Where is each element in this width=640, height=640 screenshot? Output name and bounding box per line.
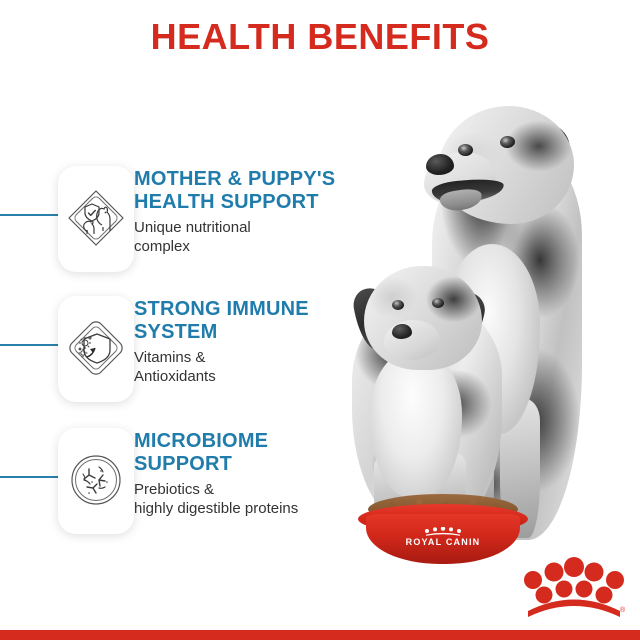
adult-dog-nose: [426, 154, 454, 175]
benefit-text-block: MOTHER & PUPPY'S HEALTH SUPPORT Unique n…: [134, 168, 359, 256]
bowl-crown-icon: [422, 528, 464, 536]
adult-dog-eye-left: [458, 144, 473, 156]
benefit-heading: MICROBIOME SUPPORT: [134, 430, 359, 476]
benefit-item-strong-immune-system: STRONG IMMUNE SYSTEM Vitamins & Antioxid…: [0, 296, 360, 406]
puppy-chest: [370, 348, 462, 498]
svg-text:®: ®: [620, 606, 626, 614]
benefit-item-mother-puppy-health-support: MOTHER & PUPPY'S HEALTH SUPPORT Unique n…: [0, 166, 360, 276]
mother-and-puppy-icon: [62, 182, 130, 254]
benefit-heading: MOTHER & PUPPY'S HEALTH SUPPORT: [134, 168, 359, 214]
shield-immunity-icon: [62, 312, 130, 384]
health-benefits-page: HEALTH BENEFITS: [0, 0, 640, 640]
food-bowl: ROYAL CANIN: [352, 494, 534, 566]
dog-photo: ROYAL CANIN: [340, 48, 640, 568]
benefit-description: Vitamins & Antioxidants: [134, 348, 359, 386]
bottom-red-bar: [0, 630, 640, 640]
benefit-heading: STRONG IMMUNE SYSTEM: [134, 298, 359, 344]
puppy-muzzle: [384, 320, 440, 360]
benefit-description: Unique nutritional complex: [134, 218, 359, 256]
royal-canin-crown-logo: ®: [522, 556, 626, 618]
bowl-brand-text: ROYAL CANIN: [352, 537, 534, 547]
puppy-eye-left: [392, 300, 404, 310]
benefit-item-microbiome-support: MICROBIOME SUPPORT Prebiotics & highly d…: [0, 428, 360, 538]
puppy-eye-right: [432, 298, 444, 308]
microbiome-bacteria-icon: [62, 444, 130, 516]
puppy-nose: [392, 324, 412, 339]
benefit-text-block: STRONG IMMUNE SYSTEM Vitamins & Antioxid…: [134, 298, 359, 386]
benefit-description: Prebiotics & highly digestible proteins: [134, 480, 359, 518]
benefit-text-block: MICROBIOME SUPPORT Prebiotics & highly d…: [134, 430, 359, 518]
